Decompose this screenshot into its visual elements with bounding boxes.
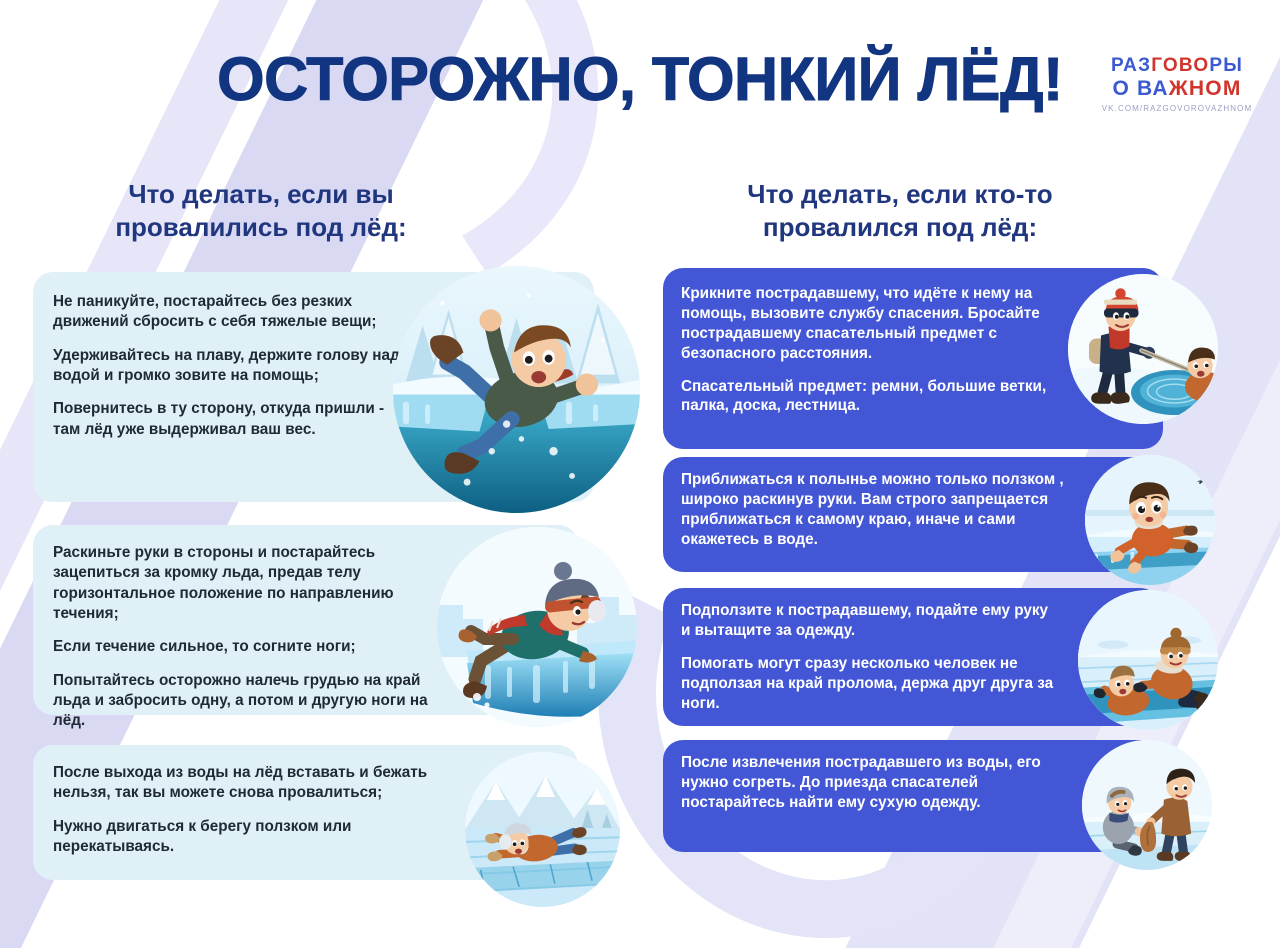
left-heading-line-1: Что делать, если вы <box>26 178 496 211</box>
poster-root: ОСТОРОЖНО, ТОНКИЙ ЛЁД! РАЗГОВОРЫ О ВАЖНО… <box>0 0 1280 948</box>
logo-url: VK.COM/RAZGOVOROVAZHNOM <box>1086 105 1268 113</box>
logo-line-1: РАЗГОВОРЫ <box>1086 56 1268 75</box>
card-text-block: После извлечения пострадавшего из воды, … <box>681 753 1066 813</box>
rescuer-pulling-victim-icon <box>1078 590 1218 730</box>
left-column-heading: Что делать, если вы провалились под лёд: <box>26 178 496 245</box>
card-text-block: Крикните пострадавшему, что идёте к нему… <box>681 284 1071 416</box>
left-heading-line-2: провалились под лёд: <box>26 211 496 244</box>
card-paragraph: Раскиньте руки в стороны и постарайтесь … <box>53 543 458 624</box>
boy-crawling-toward-hole-icon <box>1085 455 1215 585</box>
rescuer-extending-pole-icon <box>1068 274 1218 424</box>
right-column-heading: Что делать, если кто-то провалился под л… <box>660 178 1140 245</box>
logo-line-2: О ВАЖНОМ <box>1086 78 1268 99</box>
card-paragraph: Приближаться к полынье можно только полз… <box>681 470 1076 550</box>
card-paragraph: Удерживайтесь на плаву, держите голову н… <box>53 346 403 387</box>
boy-handing-dry-clothes-icon <box>1082 740 1212 870</box>
card-paragraph: Не паникуйте, постарайтесь без резких дв… <box>53 292 403 333</box>
boy-falling-through-ice-icon <box>393 266 640 513</box>
boy-crawling-on-ice-icon <box>465 752 620 907</box>
card-text-block: Не паникуйте, постарайтесь без резких дв… <box>53 292 403 440</box>
card-text-block: Раскиньте руки в стороны и постарайтесь … <box>53 543 458 732</box>
card-paragraph: Крикните пострадавшему, что идёте к нему… <box>681 284 1071 364</box>
right-heading-line-1: Что делать, если кто-то <box>660 178 1140 211</box>
card-paragraph: Помогать могут сразу несколько человек н… <box>681 654 1061 714</box>
card-paragraph: Нужно двигаться к берегу ползком или пер… <box>53 817 438 858</box>
card-paragraph: Спасательный предмет: ремни, большие вет… <box>681 377 1071 417</box>
card-paragraph: После извлечения пострадавшего из воды, … <box>681 753 1066 813</box>
right-heading-line-2: провалился под лёд: <box>660 211 1140 244</box>
card-paragraph: Если течение сильное, то согните ноги; <box>53 637 458 657</box>
card-paragraph: После выхода из воды на лёд вставать и б… <box>53 763 438 804</box>
boy-climbing-onto-ice-edge-icon <box>437 527 637 727</box>
brand-logo: РАЗГОВОРЫ О ВАЖНОМ VK.COM/RAZGOVOROVAZHN… <box>1086 56 1268 113</box>
card-paragraph: Повернитесь в ту сторону, откуда пришли … <box>53 399 403 440</box>
card-paragraph: Подползите к пострадавшему, подайте ему … <box>681 601 1061 641</box>
card-text-block: Приближаться к полынье можно только полз… <box>681 470 1076 550</box>
card-text-block: Подползите к пострадавшему, подайте ему … <box>681 601 1061 713</box>
card-paragraph: Попытайтесь осторожно налечь грудью на к… <box>53 671 458 732</box>
card-text-block: После выхода из воды на лёд вставать и б… <box>53 763 438 857</box>
